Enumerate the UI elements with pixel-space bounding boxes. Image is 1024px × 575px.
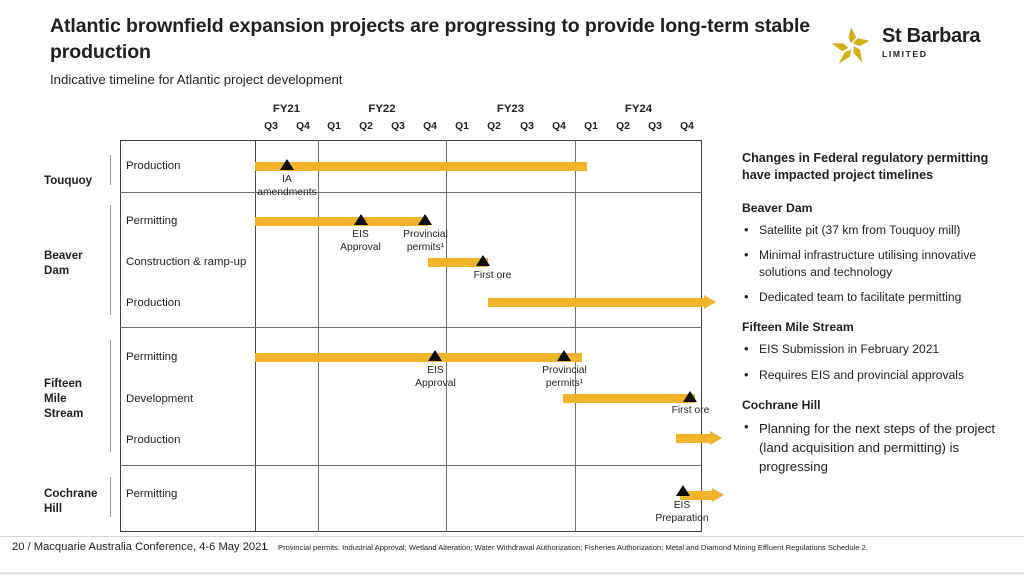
gridline-group-fms-bottom	[120, 465, 702, 466]
commentary-bullets-cochrane-hill: Planning for the next steps of the proje…	[742, 419, 1010, 476]
quarter-label-fy24-q2: Q2	[607, 121, 639, 132]
commentary-bullets-beaver-dam: Satellite pit (37 km from Touquoy mill) …	[742, 222, 1010, 307]
quarter-label-fy22-q3: Q3	[382, 121, 414, 132]
row-label-ch-permitting: Permitting	[126, 488, 177, 500]
commentary-section-title-beaver-dam: Beaver Dam	[742, 201, 1010, 215]
list-item: Satellite pit (37 km from Touquoy mill)	[742, 222, 1010, 239]
row-label-bd-construction: Construction & ramp-up	[126, 256, 246, 268]
group-bracket-touquoy	[110, 155, 111, 185]
commentary-bullets-fifteen-mile-stream: EIS Submission in February 2021 Requires…	[742, 341, 1010, 383]
logo-name: St Barbara	[882, 26, 980, 46]
milestone-label-ia-amendments: IA amendments	[237, 174, 337, 199]
milestone-marker-fms-provincial-permits	[557, 350, 571, 361]
quarter-label-fy21-q3: Q3	[255, 121, 287, 132]
list-item: Minimal infrastructure utilising innovat…	[742, 247, 1010, 281]
commentary-heading: Changes in Federal regulatory permitting…	[742, 150, 1010, 185]
bar-beaverdam-permitting	[255, 217, 428, 226]
milestone-label-fms-first-ore: First ore	[651, 405, 730, 418]
gridline-group-beaverdam-bottom	[120, 327, 702, 328]
milestone-label-fms-eis-approval: EIS Approval	[396, 365, 475, 390]
group-label-fifteen-mile-stream: Fifteen Mile Stream	[44, 376, 116, 421]
milestone-marker-bd-provincial-permits	[418, 214, 432, 225]
quarter-label-fy21-q4: Q4	[287, 121, 319, 132]
row-label-touquoy-production: Production	[126, 160, 180, 172]
row-label-bd-production: Production	[126, 297, 180, 309]
gridline-group-touquoy-bottom	[120, 192, 702, 193]
gantt-grid-frame	[120, 140, 702, 532]
arrow-head-icon	[710, 431, 722, 445]
bar-stem	[676, 434, 711, 443]
list-item: Requires EIS and provincial approvals	[742, 367, 1010, 384]
commentary-panel: Changes in Federal regulatory permitting…	[742, 150, 1010, 484]
fy-label-2: FY23	[446, 103, 575, 115]
list-item: EIS Submission in February 2021	[742, 341, 1010, 358]
bar-fms-production	[676, 431, 722, 445]
bar-stem	[488, 298, 705, 307]
slide: Atlantic brownfield expansion projects a…	[0, 0, 1024, 575]
group-bracket-fifteen-mile-stream	[110, 340, 111, 452]
quarter-label-fy23-q4: Q4	[543, 121, 575, 132]
row-label-fms-permitting: Permitting	[126, 351, 177, 363]
page-subtitle: Indicative timeline for Atlantic project…	[50, 72, 750, 87]
quarter-label-fy24-q4: Q4	[671, 121, 703, 132]
bar-fms-development	[563, 394, 695, 403]
footer-text: 20 / Macquarie Australia Conference, 4-6…	[12, 541, 268, 553]
page-title: Atlantic brownfield expansion projects a…	[50, 14, 820, 65]
bar-touquoy-production	[255, 162, 587, 171]
logo-subtitle: LIMITED	[882, 49, 980, 59]
bar-fms-permitting	[255, 353, 582, 362]
quarter-label-fy23-q1: Q1	[446, 121, 478, 132]
group-bracket-beaver-dam	[110, 205, 111, 315]
milestone-marker-fms-first-ore	[683, 391, 697, 402]
footer-divider	[0, 536, 1024, 537]
row-label-bd-permitting: Permitting	[126, 215, 177, 227]
commentary-section-title-fifteen-mile-stream: Fifteen Mile Stream	[742, 320, 1010, 334]
milestone-marker-ch-eis-preparation	[676, 485, 690, 496]
fy-label-3: FY24	[575, 103, 702, 115]
logo-wordmark: St Barbara LIMITED	[882, 26, 980, 59]
gridline-fy23-fy24	[575, 140, 576, 532]
list-item: Dedicated team to facilitate permitting	[742, 289, 1010, 306]
row-label-fms-development: Development	[126, 393, 193, 405]
gridline-fy22-fy23	[446, 140, 447, 532]
footnote-text: Provincial permits: Industrial Approval;…	[278, 543, 868, 552]
milestone-label-ch-eis-preparation: EIS Preparation	[637, 500, 727, 525]
milestone-label-bd-first-ore: First ore	[453, 270, 532, 283]
milestone-marker-bd-eis-approval	[354, 214, 368, 225]
quarter-label-fy22-q2: Q2	[350, 121, 382, 132]
row-label-fms-production: Production	[126, 434, 180, 446]
group-bracket-cochrane-hill	[110, 477, 111, 517]
quarter-label-fy24-q1: Q1	[575, 121, 607, 132]
milestone-marker-bd-first-ore	[476, 255, 490, 266]
group-label-cochrane-hill: Cochrane Hill	[44, 486, 116, 516]
star-pinwheel-icon	[828, 24, 874, 68]
milestone-marker-fms-eis-approval	[428, 350, 442, 361]
milestone-label-fms-provincial-permits: Provincial permits¹	[525, 365, 604, 390]
commentary-section-title-cochrane-hill: Cochrane Hill	[742, 398, 1010, 412]
bar-beaverdam-production	[488, 295, 716, 309]
milestone-marker-ia-amendments	[280, 159, 294, 170]
group-label-beaver-dam: Beaver Dam	[44, 248, 116, 278]
quarter-label-fy24-q3: Q3	[639, 121, 671, 132]
group-label-touquoy: Touquoy	[44, 173, 116, 188]
brand-logo: St Barbara LIMITED	[828, 22, 1008, 70]
milestone-label-bd-provincial-permits: Provincial permits¹	[386, 229, 465, 254]
fy-label-1: FY22	[318, 103, 446, 115]
arrow-head-icon	[704, 295, 716, 309]
list-item: Planning for the next steps of the proje…	[742, 419, 1010, 476]
quarter-label-fy23-q3: Q3	[511, 121, 543, 132]
quarter-label-fy22-q1: Q1	[318, 121, 350, 132]
quarter-label-fy23-q2: Q2	[478, 121, 510, 132]
footnote-marker: 1.	[262, 543, 269, 552]
quarter-label-fy22-q4: Q4	[414, 121, 446, 132]
fy-label-0: FY21	[255, 103, 318, 115]
